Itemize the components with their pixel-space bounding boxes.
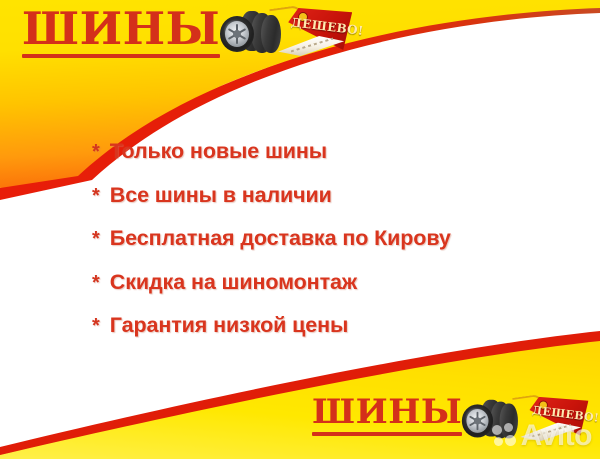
bullet-label: Бесплатная доставка по Кирову: [110, 227, 451, 250]
bullet-marker: *: [92, 316, 100, 336]
avito-dot: [494, 437, 503, 446]
bullet-marker: *: [92, 186, 100, 206]
bullet-marker: *: [92, 229, 100, 249]
list-item: * Все шины в наличии: [92, 184, 592, 207]
advertisement-banner: ШИНЫ ДЕШЕВО! * Только новые шины: [0, 0, 600, 459]
avito-dot: [505, 435, 516, 446]
bullet-label: Скидка на шиномонтаж: [110, 271, 357, 294]
list-item: * Гарантия низкой цены: [92, 314, 592, 337]
list-item: * Скидка на шиномонтаж: [92, 271, 592, 294]
bullet-marker: *: [92, 142, 100, 162]
logo-top: ШИНЫ ДЕШЕВО!: [22, 6, 356, 60]
bullet-label: Гарантия низкой цены: [110, 314, 348, 337]
bullet-marker: *: [92, 273, 100, 293]
bullet-label: Все шины в наличии: [110, 184, 332, 207]
bullet-label: Только новые шины: [110, 140, 327, 163]
avito-dot: [492, 425, 502, 435]
feature-list: * Только новые шины * Все шины в наличии…: [92, 140, 592, 358]
list-item: * Бесплатная доставка по Кирову: [92, 227, 592, 250]
price-tag-icon: ДЕШЕВО!: [282, 6, 356, 56]
list-item: * Только новые шины: [92, 140, 592, 163]
wordmark-underline: [312, 432, 462, 436]
avito-watermark-label: Avito: [521, 419, 592, 453]
brand-wordmark-bottom: ШИНЫ: [312, 395, 462, 436]
avito-watermark: Avito: [492, 419, 592, 453]
avito-logo-icon: [492, 423, 518, 449]
avito-dot: [504, 423, 513, 432]
brand-wordmark-bottom-text: ШИНЫ: [312, 392, 462, 432]
brand-wordmark-top-text: ШИНЫ: [22, 2, 220, 55]
brand-wordmark-top: ШИНЫ: [22, 6, 220, 58]
